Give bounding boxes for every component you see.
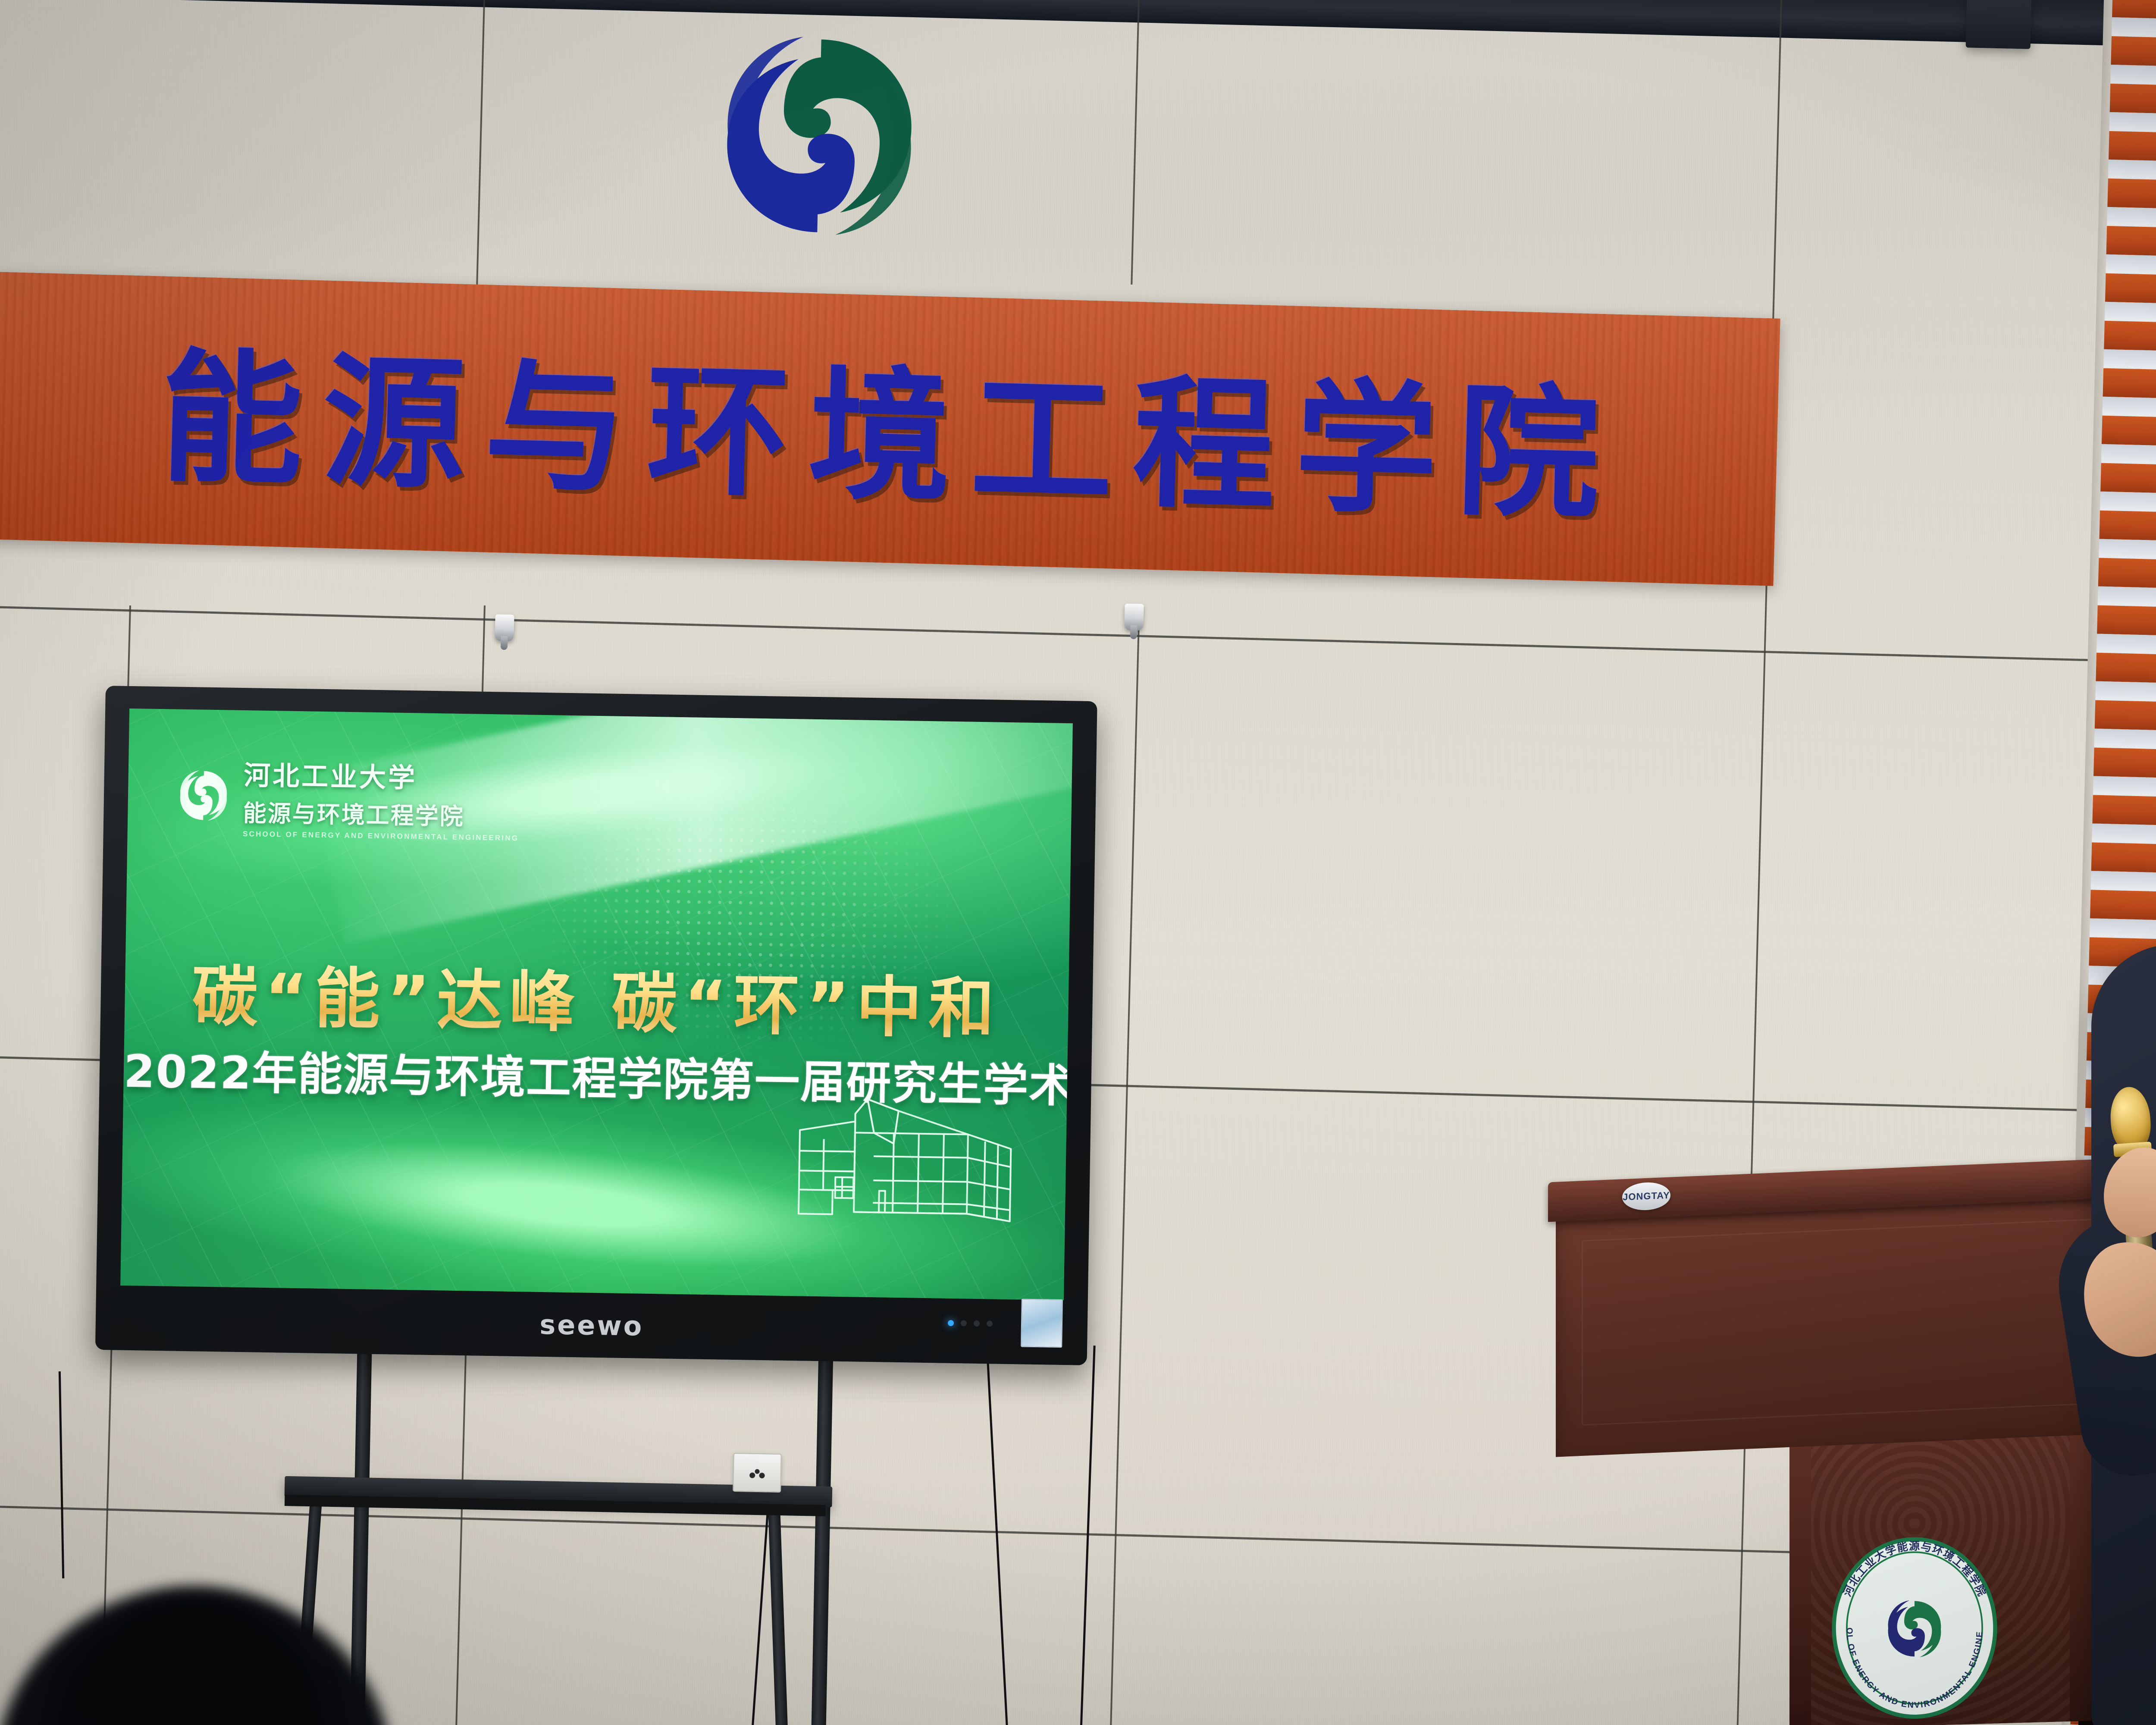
wall-hook-icon [1124, 603, 1144, 630]
school-emblem-icon [705, 22, 934, 251]
status-led-icon [987, 1320, 993, 1327]
slide-logo-university: 河北工业大学 [244, 753, 520, 797]
wall-power-outlet [733, 1453, 782, 1493]
wall-banner-panel [0, 272, 1780, 586]
power-led-icon [948, 1320, 954, 1326]
status-led-icon [961, 1320, 967, 1326]
building-illustration-icon [781, 1090, 1025, 1236]
display-brand-label: seewo [539, 1308, 644, 1342]
conference-hall-photo: 能源与环境工程学院 [0, 0, 2156, 1725]
slide-logo-block: 河北工业大学 能源与环境工程学院 SCHOOL OF ENERGY AND EN… [175, 753, 520, 843]
slide-title: 碳“能”达峰 碳“环”中和 [124, 942, 1069, 1052]
lectern-brand-label: JONGTAY [1623, 1190, 1670, 1203]
presenter [2040, 759, 2156, 1725]
display-energy-label-sticker [1021, 1299, 1063, 1348]
lectern-emblem: 河北工业大学能源与环境工程学院 SCHOOL OF ENERGY AND ENV… [1824, 1535, 2005, 1721]
display-screen[interactable]: 河北工业大学 能源与环境工程学院 SCHOOL OF ENERGY AND EN… [120, 709, 1073, 1300]
slide-logo-school: 能源与环境工程学院 [243, 794, 519, 832]
interactive-display[interactable]: 河北工业大学 能源与环境工程学院 SCHOOL OF ENERGY AND EN… [95, 686, 1097, 1365]
display-status-leds [948, 1320, 993, 1327]
presentation-slide: 河北工业大学 能源与环境工程学院 SCHOOL OF ENERGY AND EN… [120, 709, 1073, 1300]
status-led-icon [974, 1320, 980, 1327]
wall-hook-icon [495, 614, 514, 641]
ceiling-mount-bracket [1966, 0, 2032, 49]
school-emblem-icon [175, 762, 232, 828]
